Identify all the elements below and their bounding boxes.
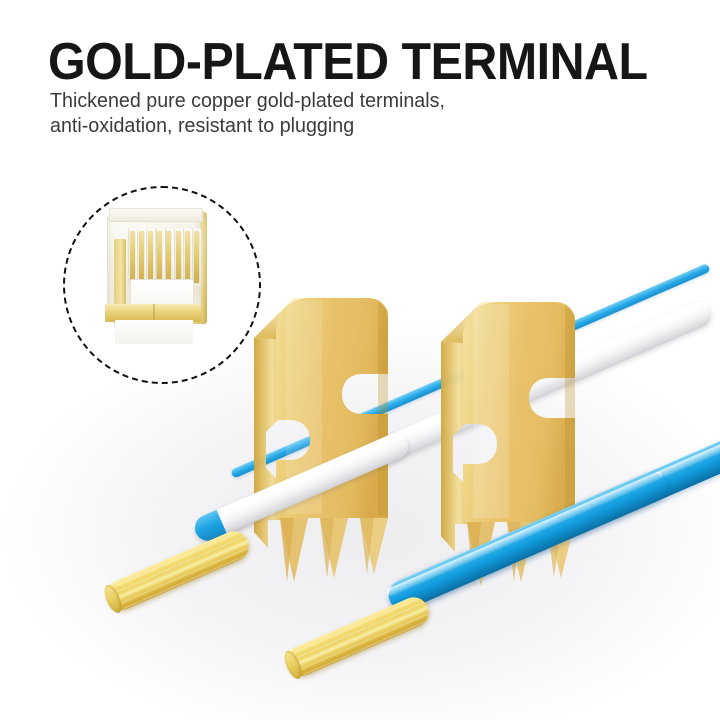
copper-core-ridges-2 bbox=[293, 593, 433, 676]
copper-core-tip-blue-wire bbox=[282, 593, 433, 681]
wire-blue-front-segment bbox=[384, 468, 671, 615]
wire-white-front-segment bbox=[191, 429, 412, 545]
copper-core-tip-white-wire bbox=[102, 527, 253, 615]
wire-blue-front-highlight bbox=[385, 470, 663, 597]
copper-core-ridges-1 bbox=[113, 527, 253, 610]
product-image-canvas: GOLD-PLATED TERMINAL Thickened pure copp… bbox=[0, 0, 720, 720]
wire-white-front-highlight bbox=[192, 432, 406, 530]
wires-front-layer bbox=[0, 0, 720, 720]
